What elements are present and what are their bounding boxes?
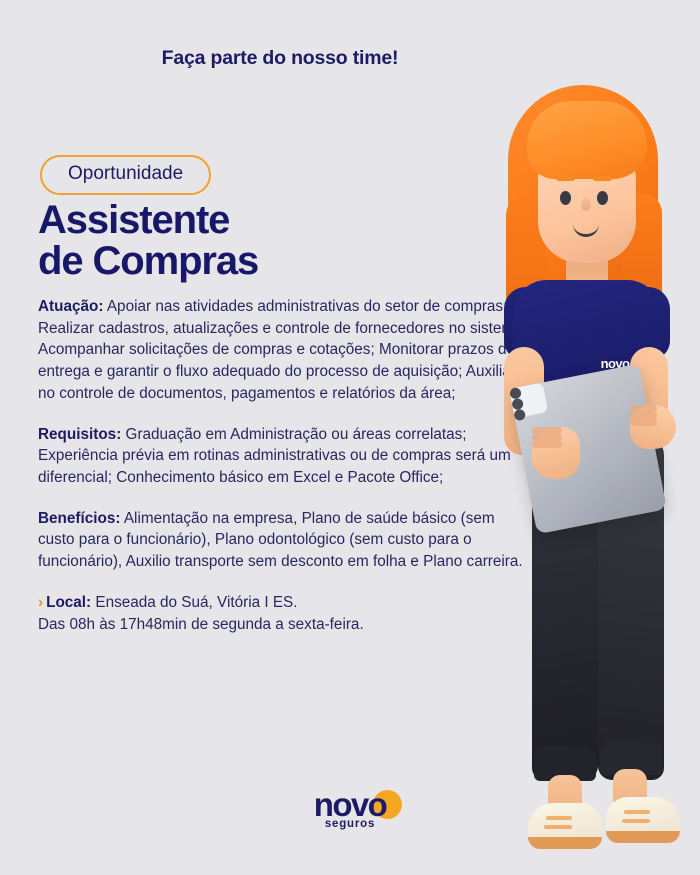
section-text-atuacao: Apoiar nas atividades administrativas do… [38,298,527,402]
section-text-hours: Das 08h às 17h48min de segunda a sexta-f… [38,616,364,633]
finger [532,427,562,434]
chevron-right-icon: › [38,592,43,614]
logo-wrap: novo seguros [284,788,416,840]
eyebrow-right [593,176,612,181]
section-label-atuacao: Atuação: [38,298,103,315]
eye-left [560,191,571,205]
section-label-requisitos: Requisitos: [38,426,121,443]
opportunity-badge: Oportunidade [40,155,211,195]
job-posting-poster: Faça parte do nosso time! Oportunidade A… [0,0,700,875]
hair-fringe [527,101,647,179]
logo-word: novo [284,788,416,821]
job-description: Atuação: Apoiar nas atividades administr… [38,296,530,635]
finger [630,419,657,426]
tablet-camera-module [509,382,548,418]
hand-left [532,427,580,479]
logo-sub: seguros [284,818,416,830]
job-title-line-2: de Compras [38,241,498,282]
finger [630,405,657,412]
finger [630,412,657,419]
footer-logo: novo seguros [0,788,700,840]
headline: Faça parte do nosso time! [0,47,560,70]
finger [532,434,562,441]
section-requisitos: Requisitos: Graduação em Administração o… [38,424,530,489]
eyebrow-left [556,176,575,181]
eye-right [597,191,608,205]
section-local: ›Local: Enseada do Suá, Vitória I ES. Da… [38,592,530,635]
character-illustration: novo seguros [480,75,700,875]
page-title: Assistente de Compras [38,200,498,282]
section-atuacao: Atuação: Apoiar nas atividades administr… [38,296,530,405]
section-label-beneficios: Benefícios: [38,510,120,527]
job-title-line-1: Assistente [38,200,498,241]
nose [581,198,591,211]
hand-right [630,405,676,449]
section-text-local: Enseada do Suá, Vitória I ES. [91,594,297,611]
finger [532,441,562,448]
section-beneficios: Benefícios: Alimentação na empresa, Plan… [38,508,530,573]
section-label-local: Local: [46,594,91,611]
camera-lens-icon [513,408,526,421]
